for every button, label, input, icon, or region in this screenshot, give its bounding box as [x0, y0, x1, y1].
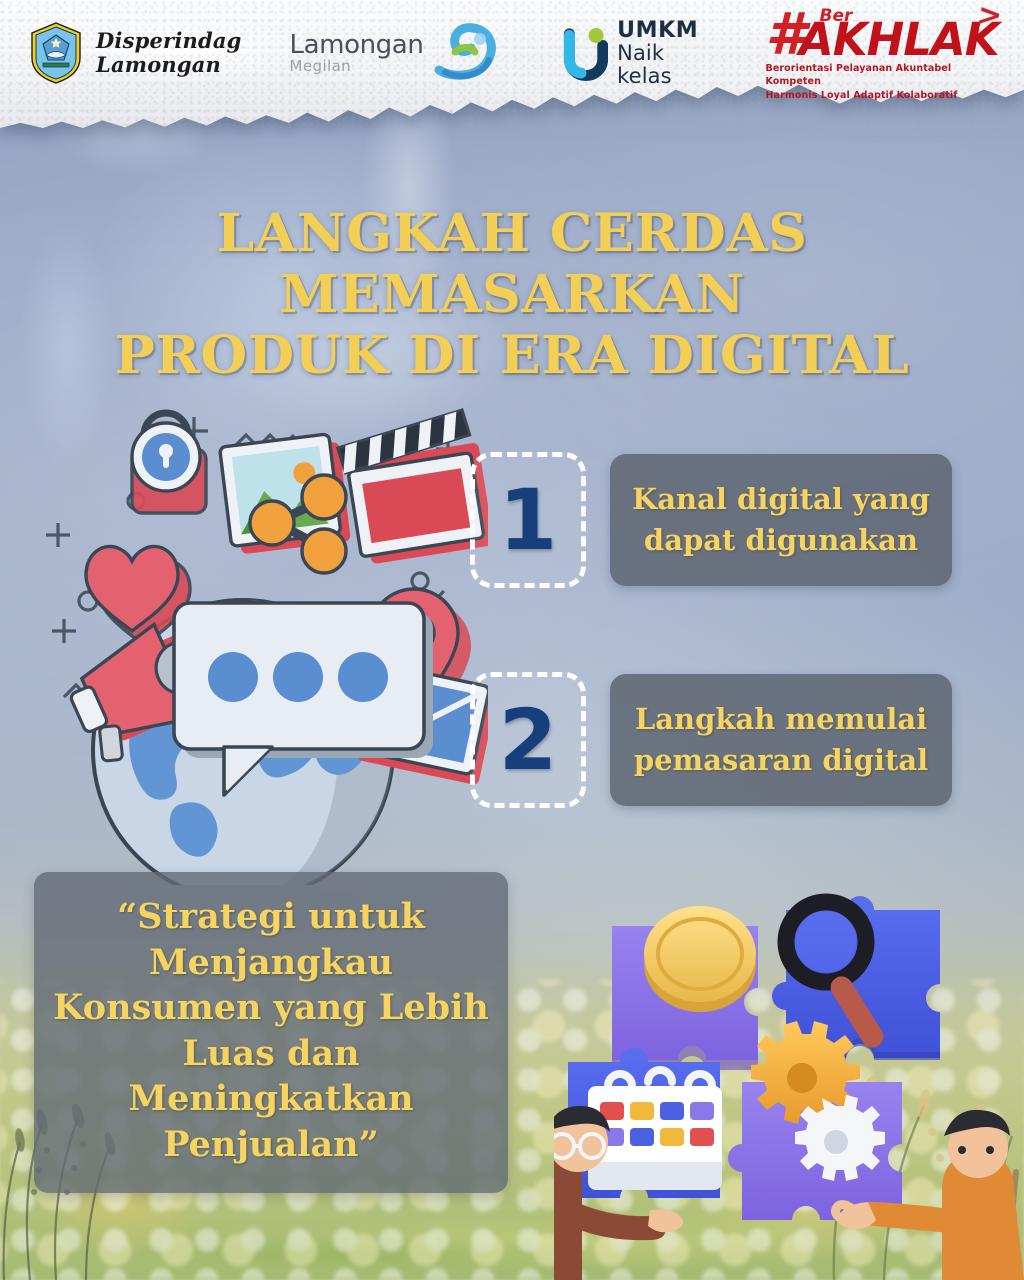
steps-list: 1 Kanal digital yang dapat digunakan 2 L… — [470, 452, 952, 808]
header-logo-band: Disperindag Lamongan Lamongan Megilan — [0, 0, 1024, 128]
logo-row: Disperindag Lamongan Lamongan Megilan — [0, 0, 1024, 128]
logo-disperindag: Disperindag Lamongan — [30, 22, 242, 84]
akhlak-wordmark: # AKHLAK Ber > — [766, 4, 999, 60]
logo-umkm-line1: UMKM — [617, 19, 707, 42]
akhlak-tagline: Berorientasi Pelayanan Akuntabel Kompete… — [766, 62, 996, 101]
step-item-1[interactable]: 1 Kanal digital yang dapat digunakan — [470, 452, 952, 588]
logo-disperindag-text: Disperindag Lamongan — [96, 29, 242, 76]
logo-lamongan-line1: Lamongan — [290, 32, 424, 58]
step-badge-1: 1 — [470, 452, 586, 588]
puzzle-teamwork-illustration — [554, 880, 1024, 1280]
akhlak-tagline-line2: Harmonis Loyal Adaptif Kolaboratif — [766, 89, 996, 102]
hashtag-icon: # — [766, 8, 801, 60]
step-card-1[interactable]: Kanal digital yang dapat digunakan — [610, 454, 952, 586]
step-text-1: Kanal digital yang dapat digunakan — [628, 479, 934, 561]
lamongan-regency-shield-emblem-icon — [30, 22, 82, 84]
umkm-u-mark-icon — [561, 20, 608, 86]
step-text-2: Langkah memulai pemasaran digital — [628, 699, 934, 781]
logo-lamongan-megilan: Lamongan Megilan — [290, 22, 500, 84]
poster-canvas: Disperindag Lamongan Lamongan Megilan — [0, 0, 1024, 1280]
clapperboard-icon — [333, 408, 488, 567]
step-number-2: 2 — [499, 698, 557, 782]
lamongan-wave-swirl-mark-icon — [425, 22, 499, 84]
logo-umkm-line2: Naik kelas — [617, 42, 707, 87]
coin-icon — [644, 906, 756, 1012]
step-item-2[interactable]: 2 Langkah memulai pemasaran digital — [470, 672, 952, 808]
logo-umkm-text: UMKM Naik kelas — [617, 19, 707, 87]
page-title-line2: PRODUK DI ERA DIGITAL — [1, 326, 1023, 387]
logo-ber-akhlak: # AKHLAK Ber > Berorientasi Pelayanan Ak… — [766, 4, 999, 101]
globe-social-media-illustration — [28, 385, 488, 885]
page-title-line1: LANGKAH CERDAS MEMASARKAN — [1, 204, 1023, 326]
page-title: LANGKAH CERDAS MEMASARKAN PRODUK DI ERA … — [0, 204, 1024, 386]
quote-card: “Strategi untuk Menjangkau Konsumen yang… — [34, 872, 508, 1193]
puzzle-piece-coin — [612, 906, 758, 1070]
step-number-1: 1 — [499, 478, 557, 562]
quote-text: “Strategi untuk Menjangkau Konsumen yang… — [52, 894, 490, 1167]
logo-lamongan-line2: Megilan — [290, 59, 424, 74]
logo-disperindag-line2: Lamongan — [96, 53, 242, 77]
step-badge-2: 2 — [470, 672, 586, 808]
logo-umkm-naik-kelas: UMKM Naik kelas — [561, 19, 707, 87]
akhlak-ber-text: Ber — [820, 6, 853, 26]
chevron-right-icon: > — [974, 0, 1005, 33]
step-card-2[interactable]: Langkah memulai pemasaran digital — [610, 674, 952, 806]
logo-disperindag-line1: Disperindag — [96, 29, 242, 53]
logo-lamongan-text: Lamongan Megilan — [290, 32, 424, 74]
